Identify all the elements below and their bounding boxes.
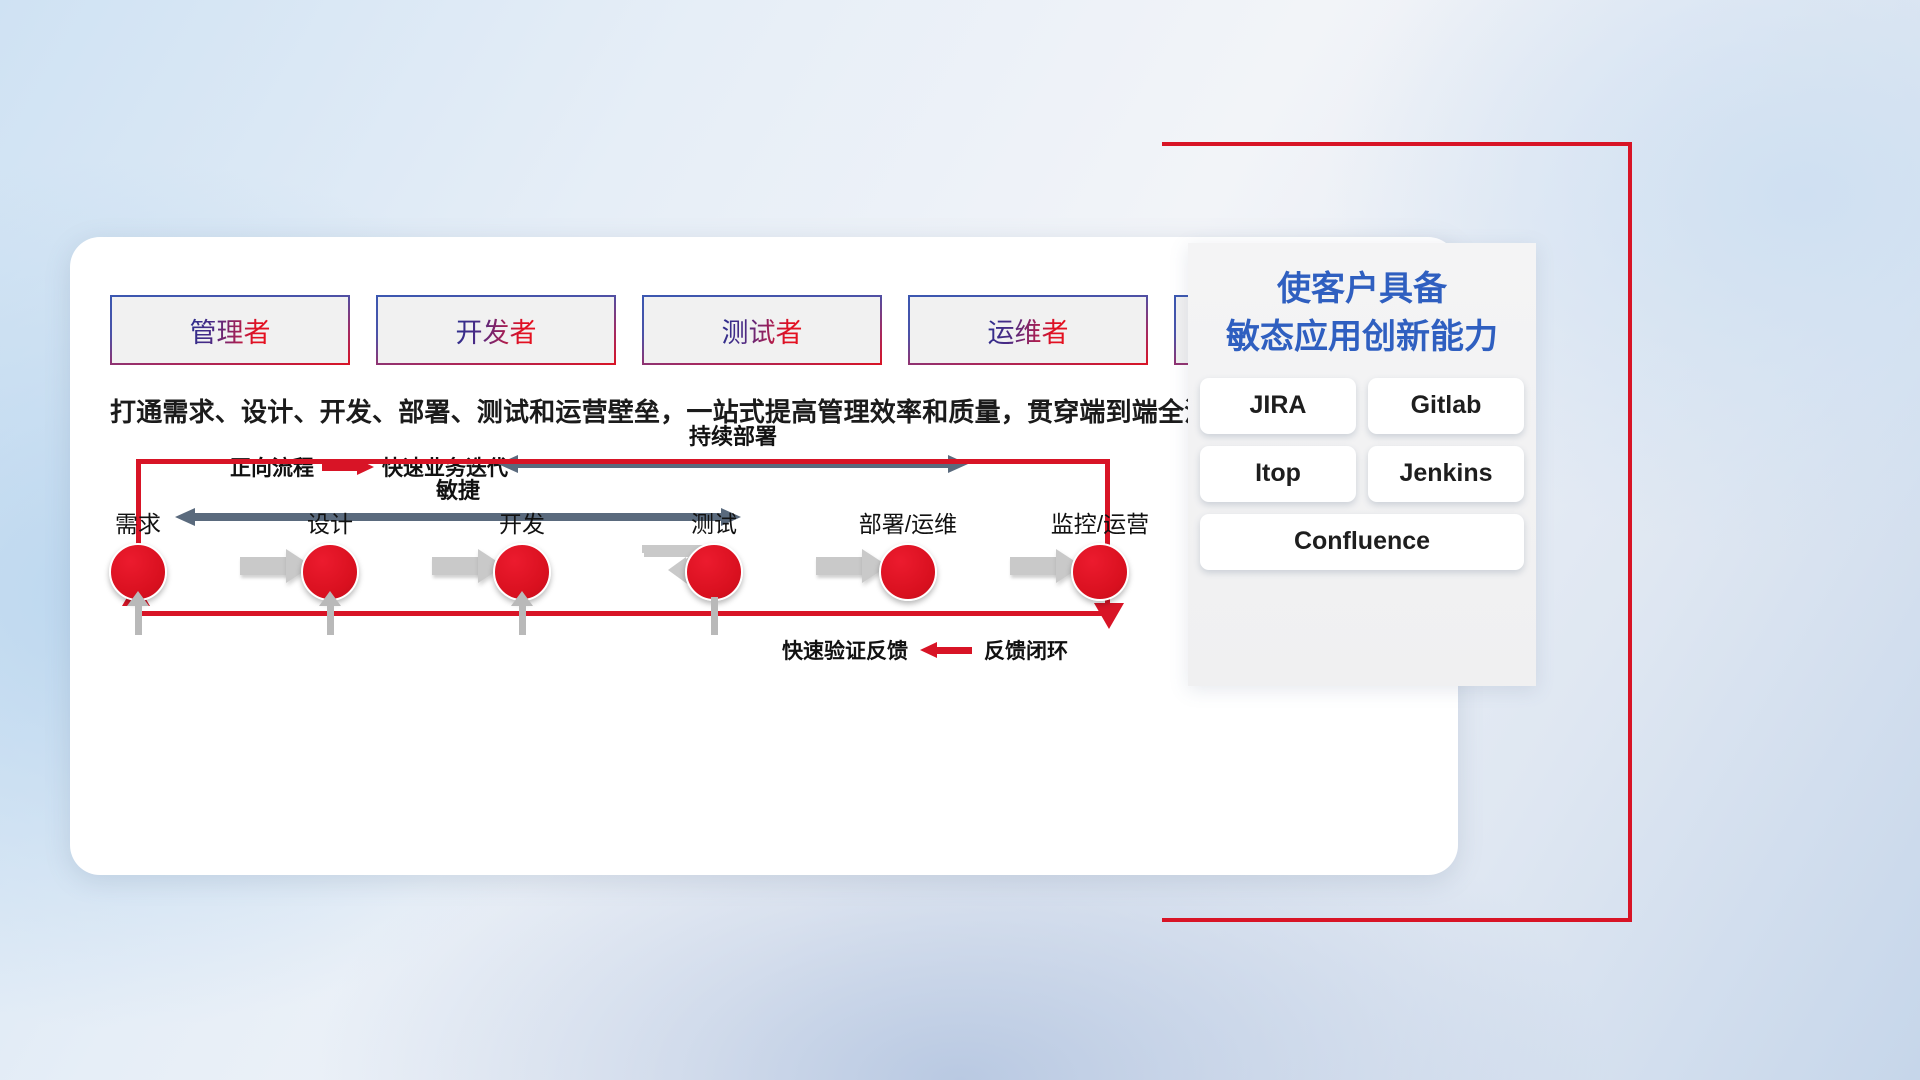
node-label: 开发 — [462, 505, 582, 539]
node-label: 测试 — [654, 505, 774, 539]
role-box-ops-engineer[interactable]: 运维者 — [908, 295, 1148, 365]
pipeline-node-development[interactable]: 开发 — [462, 505, 582, 639]
continuous-deployment-label: 持续部署 — [498, 419, 968, 451]
node-stem-up-arrow-icon — [327, 597, 334, 635]
node-label: 设计 — [270, 505, 390, 539]
node-dot-icon — [685, 543, 743, 601]
pipeline-node-deploy-ops[interactable]: 部署/运维 — [848, 505, 968, 601]
role-box-manager[interactable]: 管理者 — [110, 295, 350, 365]
role-box-tester[interactable]: 测试者 — [642, 295, 882, 365]
pipeline-node-monitor-operations[interactable]: 监控/运营 — [1040, 505, 1160, 601]
node-label: 监控/运营 — [1040, 505, 1160, 539]
pipeline-node-design[interactable]: 设计 — [270, 505, 390, 639]
panel-title: 使客户具备 敏态应用创新能力 — [1188, 243, 1536, 362]
pipeline-node-testing[interactable]: 测试 — [654, 505, 774, 639]
node-dot-icon — [1071, 543, 1129, 601]
tool-tag-confluence[interactable]: Confluence — [1200, 514, 1524, 570]
outcome-panel: 使客户具备 敏态应用创新能力 JIRA Gitlab Itop Jenkins … — [1188, 243, 1536, 686]
pipeline-row: 需求 设计 开发 — [70, 505, 1200, 645]
pipeline-node-requirements[interactable]: 需求 — [78, 505, 198, 639]
node-stem-up-arrow-icon — [135, 597, 142, 635]
role-label: 开发者 — [456, 311, 537, 350]
panel-title-line-1: 使客户具备 — [1188, 265, 1536, 313]
node-stem-icon — [711, 597, 718, 635]
node-dot-icon — [879, 543, 937, 601]
tool-tag-gitlab[interactable]: Gitlab — [1368, 378, 1524, 434]
tool-tag-list: JIRA Gitlab Itop Jenkins Confluence — [1188, 378, 1536, 570]
node-stem-up-arrow-icon — [519, 597, 526, 635]
tool-tag-jira[interactable]: JIRA — [1200, 378, 1356, 434]
role-box-developer[interactable]: 开发者 — [376, 295, 616, 365]
panel-title-line-2: 敏态应用创新能力 — [1188, 313, 1536, 361]
node-label: 部署/运维 — [848, 505, 968, 539]
node-label: 需求 — [78, 505, 198, 539]
role-label: 运维者 — [988, 311, 1069, 350]
tool-tag-itop[interactable]: Itop — [1200, 446, 1356, 502]
tool-tag-jenkins[interactable]: Jenkins — [1368, 446, 1524, 502]
role-label: 测试者 — [722, 311, 803, 350]
role-label: 管理者 — [190, 311, 271, 350]
